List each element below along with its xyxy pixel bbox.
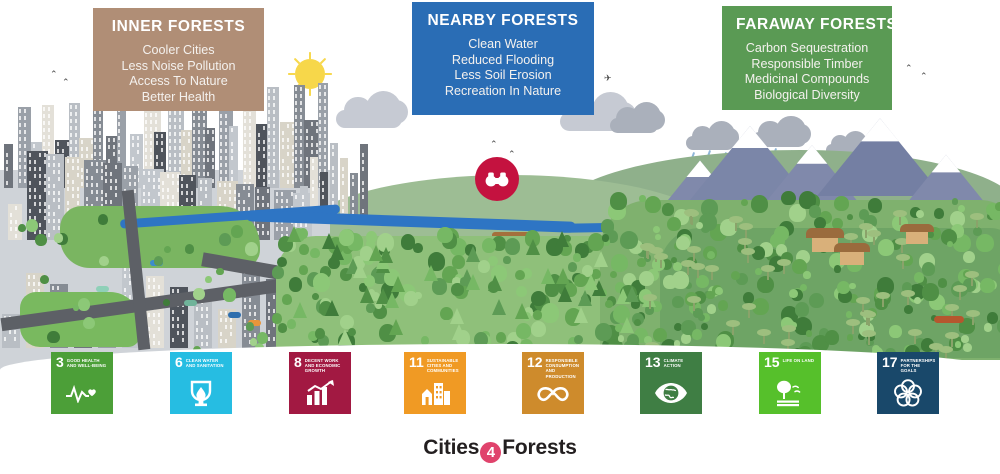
building-window (273, 131, 275, 134)
building-window (24, 144, 26, 147)
building-window (342, 195, 344, 198)
tree-icon (846, 311, 853, 318)
building-window (300, 108, 302, 111)
building-window (29, 160, 31, 163)
tree-icon (496, 332, 506, 343)
building-window (219, 183, 221, 186)
bird-icon: ⌃ (920, 72, 928, 81)
building-window (172, 289, 174, 292)
building-window (150, 155, 152, 158)
building-window (67, 187, 69, 190)
conifer-icon (515, 303, 529, 319)
building-window (295, 178, 297, 181)
building-window (324, 127, 326, 130)
building-window (332, 173, 334, 176)
building-window (352, 182, 354, 185)
palm-frond (901, 290, 915, 297)
building-window (220, 163, 222, 166)
building-window (105, 179, 107, 182)
building-window (324, 85, 326, 88)
building-window (53, 191, 55, 194)
building-window (191, 198, 193, 201)
building-window (220, 142, 222, 145)
tree-icon (958, 205, 965, 212)
conifer-icon (578, 290, 592, 306)
water-drop-icon (170, 378, 232, 408)
building-window (230, 332, 232, 335)
tree-icon (663, 275, 676, 289)
building-window (268, 110, 270, 113)
building-window (302, 195, 304, 198)
tree-icon (718, 300, 728, 311)
building-window (281, 227, 283, 230)
building-window (268, 173, 270, 176)
building-window (43, 135, 45, 138)
sdg-badge-6[interactable]: 6Clean Water and Sanitation (170, 352, 232, 414)
building-window (91, 176, 93, 179)
building-window (300, 171, 302, 174)
building-window (300, 157, 302, 160)
building (229, 126, 238, 188)
building-window (6, 181, 8, 184)
bird-icon: ⌃ (62, 78, 70, 87)
tree-icon (868, 198, 882, 212)
panel-benefit: Responsible Timber (736, 57, 878, 73)
tree-icon (312, 293, 319, 301)
building-window (99, 117, 101, 120)
building-window (276, 227, 278, 230)
building-window (231, 142, 233, 145)
building (294, 85, 305, 188)
building-window (53, 198, 55, 201)
palm-frond (684, 209, 698, 216)
building-window (324, 141, 326, 144)
building-window (39, 174, 41, 177)
panel-faraway-forests[interactable]: FARAWAY FORESTS Carbon Sequestration Res… (722, 6, 892, 110)
building-window (220, 114, 222, 117)
building-window (295, 122, 297, 125)
building-window (19, 165, 21, 168)
building-window (249, 168, 251, 171)
palm-tree-icon (970, 212, 984, 228)
building-window (268, 316, 270, 319)
conifer-icon (424, 265, 438, 281)
building-window (94, 138, 96, 141)
building-window (254, 333, 256, 336)
building-window (198, 137, 200, 140)
building-window (15, 234, 17, 237)
building-window (249, 298, 251, 301)
building-window (362, 195, 364, 198)
building (350, 173, 358, 216)
building-window (225, 149, 227, 152)
building-window (28, 282, 30, 285)
building-window (201, 314, 203, 317)
building-window (10, 227, 12, 230)
building-window (193, 158, 195, 161)
tree-icon (154, 256, 163, 266)
building-window (220, 311, 222, 314)
tree-icon (803, 271, 810, 279)
building-window (172, 174, 174, 177)
building-window (182, 338, 184, 341)
building-window (52, 286, 54, 289)
building-window (302, 202, 304, 205)
building-window (96, 183, 98, 186)
building-window (319, 113, 321, 116)
building-window (183, 160, 185, 163)
palm-tree-icon (966, 309, 980, 325)
hut-icon (906, 230, 928, 244)
building-window (99, 138, 101, 141)
building-window (295, 94, 297, 97)
building-window (324, 162, 326, 165)
building-window (91, 162, 93, 165)
building-window (244, 154, 246, 157)
building-window (177, 324, 179, 327)
palm-frond (893, 210, 907, 217)
building-window (282, 145, 284, 148)
building-window (48, 107, 50, 110)
building-window (81, 154, 83, 157)
building-window (244, 147, 246, 150)
building-window (276, 199, 278, 202)
building-window (276, 192, 278, 195)
hut-icon (840, 250, 864, 265)
building-window (19, 158, 21, 161)
sdg-badge-17[interactable]: 17Partnerships for the Goals (877, 352, 939, 414)
conifer-icon (389, 319, 403, 335)
building-window (137, 136, 139, 139)
hut-roof-icon (834, 243, 870, 252)
building (340, 158, 348, 216)
conifer-icon (353, 262, 367, 278)
tree-icon (795, 302, 810, 317)
palm-tree-icon (859, 222, 873, 238)
tree-icon (662, 203, 675, 216)
building-window (249, 333, 251, 336)
infographic-root: ⌃ ⌃ ✈ ⌃ ⌃ ⌃ ⌃ (0, 0, 1000, 474)
building-window (249, 140, 251, 143)
building-window (305, 223, 307, 226)
tree-icon (219, 233, 231, 246)
building-window (86, 147, 88, 150)
building-window (43, 142, 45, 145)
building-window (324, 92, 326, 95)
sdg-badge-13[interactable]: 13Climate Action (640, 352, 702, 414)
building-window (295, 157, 297, 160)
building-window (263, 126, 265, 129)
building-window (244, 112, 246, 115)
panel-nearby-forests[interactable]: NEARBY FORESTS Clean Water Reduced Flood… (412, 2, 594, 115)
building-window (282, 159, 284, 162)
building-window (225, 325, 227, 328)
building-window (162, 188, 164, 191)
palm-frond (742, 303, 756, 310)
sdg-header: 11Sustainable Cities and Communities (404, 352, 466, 374)
conifer-icon (466, 274, 480, 290)
building-window (24, 151, 26, 154)
building-window (312, 194, 314, 197)
building-window (300, 143, 302, 146)
building-window (295, 136, 297, 139)
building-window (352, 203, 354, 206)
tree-icon (707, 304, 716, 313)
sdg-goal-row: 3Good Health and Well-Being6Clean Water … (0, 352, 1000, 414)
building-window (231, 128, 233, 131)
sdg-label: Responsible Consumption and Production (546, 357, 580, 379)
tree-icon (692, 329, 702, 339)
palm-frond (781, 339, 795, 346)
building-window (99, 145, 101, 148)
sdg-number: 3 (56, 357, 64, 368)
building-window (19, 179, 21, 182)
building-window (319, 106, 321, 109)
building-window (57, 149, 59, 152)
building-window (150, 141, 152, 144)
building-window (24, 130, 26, 133)
building-window (81, 182, 83, 185)
cities4forests-logo[interactable]: Cities4Forests (0, 436, 1000, 463)
building-window (115, 165, 117, 168)
tree-icon (849, 283, 855, 289)
building-window (182, 310, 184, 313)
building-window (182, 331, 184, 334)
building-window (48, 121, 50, 124)
building-window (33, 282, 35, 285)
palm-tree-icon (965, 270, 979, 286)
tree-icon (984, 323, 992, 331)
building-window (29, 188, 31, 191)
tree-icon (437, 227, 452, 244)
building-window (172, 310, 174, 313)
building-window (273, 309, 275, 312)
building-window (207, 172, 209, 175)
tree-icon (299, 244, 309, 255)
building-window (295, 195, 297, 198)
building-window (118, 136, 120, 139)
building-window (99, 131, 101, 134)
building-window (58, 219, 60, 222)
building-window (249, 126, 251, 129)
building-window (273, 173, 275, 176)
building-window (132, 143, 134, 146)
building-window (306, 157, 308, 160)
tree-icon (516, 286, 527, 298)
tree-icon (889, 325, 901, 338)
tree-icon (193, 288, 204, 300)
canoe-icon (934, 316, 964, 323)
tree-icon (503, 256, 510, 264)
building-window (34, 167, 36, 170)
building-window (249, 133, 251, 136)
building-window (281, 192, 283, 195)
building-window (169, 111, 171, 114)
building-window (324, 106, 326, 109)
palm-frond (945, 304, 959, 311)
building-window (295, 150, 297, 153)
binoculars-marker[interactable] (475, 157, 519, 201)
sdg-number: 12 (527, 357, 543, 368)
building-window (273, 138, 275, 141)
tree-icon (774, 226, 789, 241)
building-window (58, 198, 60, 201)
building-window (198, 123, 200, 126)
building-window (113, 152, 115, 155)
building-window (153, 334, 155, 337)
tree-icon (313, 273, 330, 292)
building-window (342, 181, 344, 184)
building-window (200, 187, 202, 190)
building-window (33, 144, 35, 147)
building-window (268, 96, 270, 99)
building-window (43, 114, 45, 117)
building-window (96, 190, 98, 193)
building-window (6, 167, 8, 170)
sdg-header: 13Climate Action (640, 352, 702, 368)
building-window (268, 117, 270, 120)
building-window (48, 191, 50, 194)
car-icon (184, 300, 197, 306)
building-window (198, 172, 200, 175)
building-window (29, 195, 31, 198)
building-window (249, 112, 251, 115)
sdg-badge-3[interactable]: 3Good Health and Well-Being (51, 352, 113, 414)
building-window (207, 151, 209, 154)
building-window (206, 342, 208, 345)
conifer-icon (492, 299, 506, 315)
building-window (153, 285, 155, 288)
building-window (19, 151, 21, 154)
building-window (148, 171, 150, 174)
building-window (143, 199, 145, 202)
building-window (57, 142, 59, 145)
sdg-header: 3Good Health and Well-Being (51, 352, 113, 368)
building-window (220, 135, 222, 138)
sdg-badge-8[interactable]: 8Decent Work and Economic Growth (289, 352, 351, 414)
building-window (174, 125, 176, 128)
building-window (324, 120, 326, 123)
palm-tree-icon (741, 247, 755, 263)
palm-frond (908, 329, 922, 336)
tree-icon (809, 205, 821, 217)
tree-icon (35, 234, 46, 246)
palm-frond (876, 292, 890, 299)
tree-icon (40, 275, 49, 284)
building-window (263, 154, 265, 157)
building-window (273, 159, 275, 162)
building-window (75, 140, 77, 143)
building-window (311, 122, 313, 125)
building-window (167, 174, 169, 177)
sdg-badge-12[interactable]: 12Responsible Consumption and Production (522, 352, 584, 414)
building-window (295, 143, 297, 146)
building-window (198, 165, 200, 168)
building-window (96, 169, 98, 172)
building-window (77, 173, 79, 176)
building-window (172, 195, 174, 198)
building-window (158, 320, 160, 323)
palm-tree-icon (739, 222, 753, 238)
building-window (183, 146, 185, 149)
building-window (150, 162, 152, 165)
building-window (53, 219, 55, 222)
building-window (19, 116, 21, 119)
tree-icon (611, 254, 629, 272)
tree-icon (413, 243, 422, 253)
building-window (300, 94, 302, 97)
building-window (77, 187, 79, 190)
tree-icon (278, 323, 287, 333)
building-window (172, 324, 174, 327)
panel-inner-forests[interactable]: INNER FORESTS Cooler Cities Less Noise P… (93, 8, 264, 111)
building-window (145, 155, 147, 158)
building-window (58, 177, 60, 180)
building-window (48, 114, 50, 117)
sdg-badge-11[interactable]: 11Sustainable Cities and Communities (404, 352, 466, 414)
tree-icon (601, 219, 615, 233)
building-window (153, 292, 155, 295)
tree-icon (789, 289, 798, 298)
palm-tree-icon (945, 331, 959, 347)
building-window (145, 127, 147, 130)
palm-tree-icon (953, 284, 967, 300)
building-window (118, 157, 120, 160)
bird-icon: ⌃ (50, 70, 58, 79)
building-window (300, 164, 302, 167)
building-window (352, 175, 354, 178)
panel-benefit: Better Health (107, 90, 250, 106)
building-window (205, 194, 207, 197)
building (8, 204, 22, 240)
conifer-icon (555, 231, 569, 247)
tree-icon (904, 305, 913, 314)
building-window (153, 320, 155, 323)
building-window (198, 116, 200, 119)
building-window (24, 137, 26, 140)
building-window (174, 167, 176, 170)
palm-tree-icon (876, 291, 890, 307)
building-window (77, 166, 79, 169)
building-window (220, 318, 222, 321)
building-window (248, 186, 250, 189)
building-window (10, 220, 12, 223)
panel-benefit: Recreation In Nature (426, 84, 580, 100)
tree-icon (837, 281, 850, 294)
tree-icon (272, 266, 284, 279)
building-window (91, 190, 93, 193)
palm-frond (641, 244, 655, 251)
tree-icon (809, 293, 824, 308)
palm-frond (896, 254, 910, 261)
palm-frond (862, 311, 876, 318)
palm-frond (859, 223, 873, 230)
tree-icon (205, 276, 212, 283)
sdg-badge-15[interactable]: 15Life on Land (759, 352, 821, 414)
building-window (150, 127, 152, 130)
tree-icon (715, 287, 723, 295)
building-window (132, 157, 134, 160)
hut-roof-icon (900, 224, 934, 232)
building-window (267, 203, 269, 206)
car-icon (96, 286, 109, 292)
building-window (24, 158, 26, 161)
tree-icon (533, 310, 542, 320)
building-window (179, 125, 181, 128)
sdg-label: Good Health and Well-Being (67, 357, 109, 368)
building-window (75, 112, 77, 115)
building-window (48, 205, 50, 208)
